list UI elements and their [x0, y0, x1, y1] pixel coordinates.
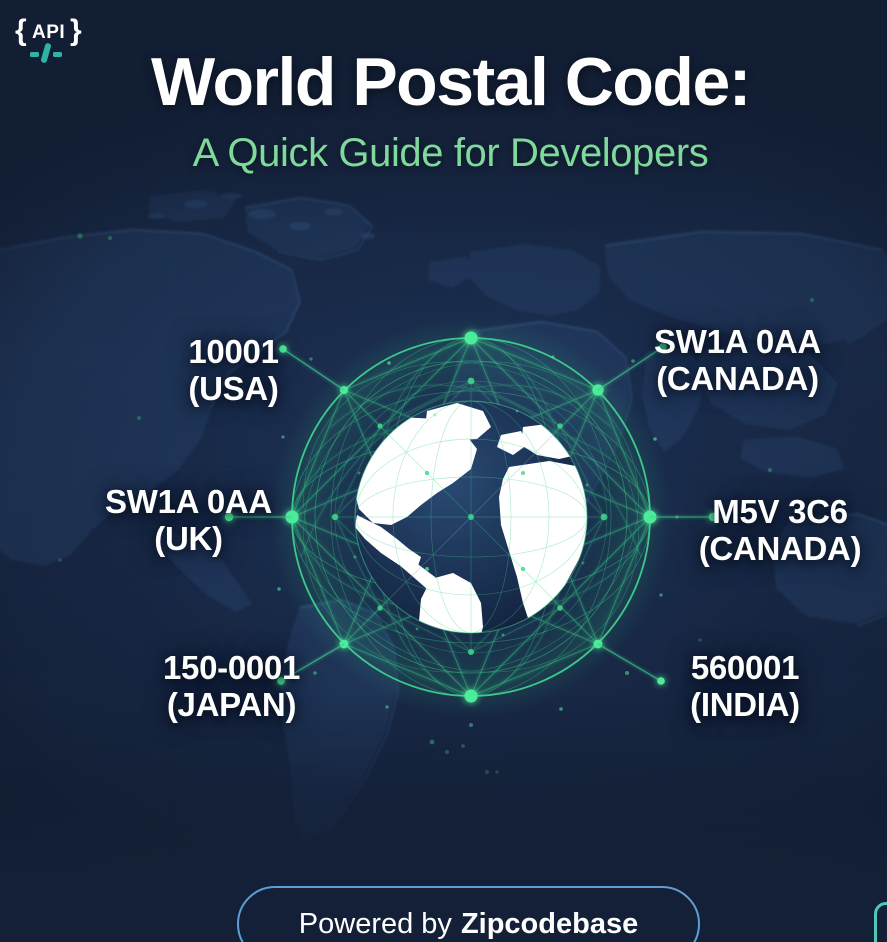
page-subtitle: A Quick Guide for Developers: [0, 132, 887, 174]
postal-label-canada-top: SW1A 0AA (CANADA): [630, 324, 845, 398]
postal-label-india: 560001 (INDIA): [645, 650, 845, 724]
postal-code-india: 560001: [691, 649, 799, 686]
postal-label-uk: SW1A 0AA (UK): [86, 484, 291, 558]
powered-by-brand: Zipcodebase: [461, 908, 638, 941]
postal-code-canada-top: SW1A 0AA: [654, 323, 821, 360]
page-title: World Postal Code:: [0, 48, 887, 116]
svg-text:{: {: [15, 14, 27, 47]
postal-country-india: (INDIA): [645, 687, 845, 724]
powered-by-prefix: Powered by: [299, 908, 452, 941]
postal-country-japan: (JAPAN): [124, 687, 339, 724]
postal-country-canada-m5v: (CANADA): [680, 531, 880, 568]
postal-code-uk: SW1A 0AA: [105, 483, 272, 520]
postal-country-canada-top: (CANADA): [630, 361, 845, 398]
postal-label-japan: 150-0001 (JAPAN): [124, 650, 339, 724]
postal-code-usa: 10001: [188, 333, 278, 370]
postal-country-uk: (UK): [86, 521, 291, 558]
powered-by-badge[interactable]: Powered by Zipcodebase: [237, 886, 700, 942]
postal-code-japan: 150-0001: [163, 649, 300, 686]
edge-card-partial[interactable]: [874, 902, 887, 942]
header: World Postal Code: A Quick Guide for Dev…: [0, 48, 887, 174]
svg-text:}: }: [70, 14, 82, 47]
postal-label-usa: 10001 (USA): [131, 334, 336, 408]
svg-text:API: API: [32, 22, 65, 43]
postal-label-canada-m5v: M5V 3C6 (CANADA): [680, 494, 880, 568]
postal-code-canada-m5v: M5V 3C6: [712, 493, 847, 530]
postal-country-usa: (USA): [131, 371, 336, 408]
